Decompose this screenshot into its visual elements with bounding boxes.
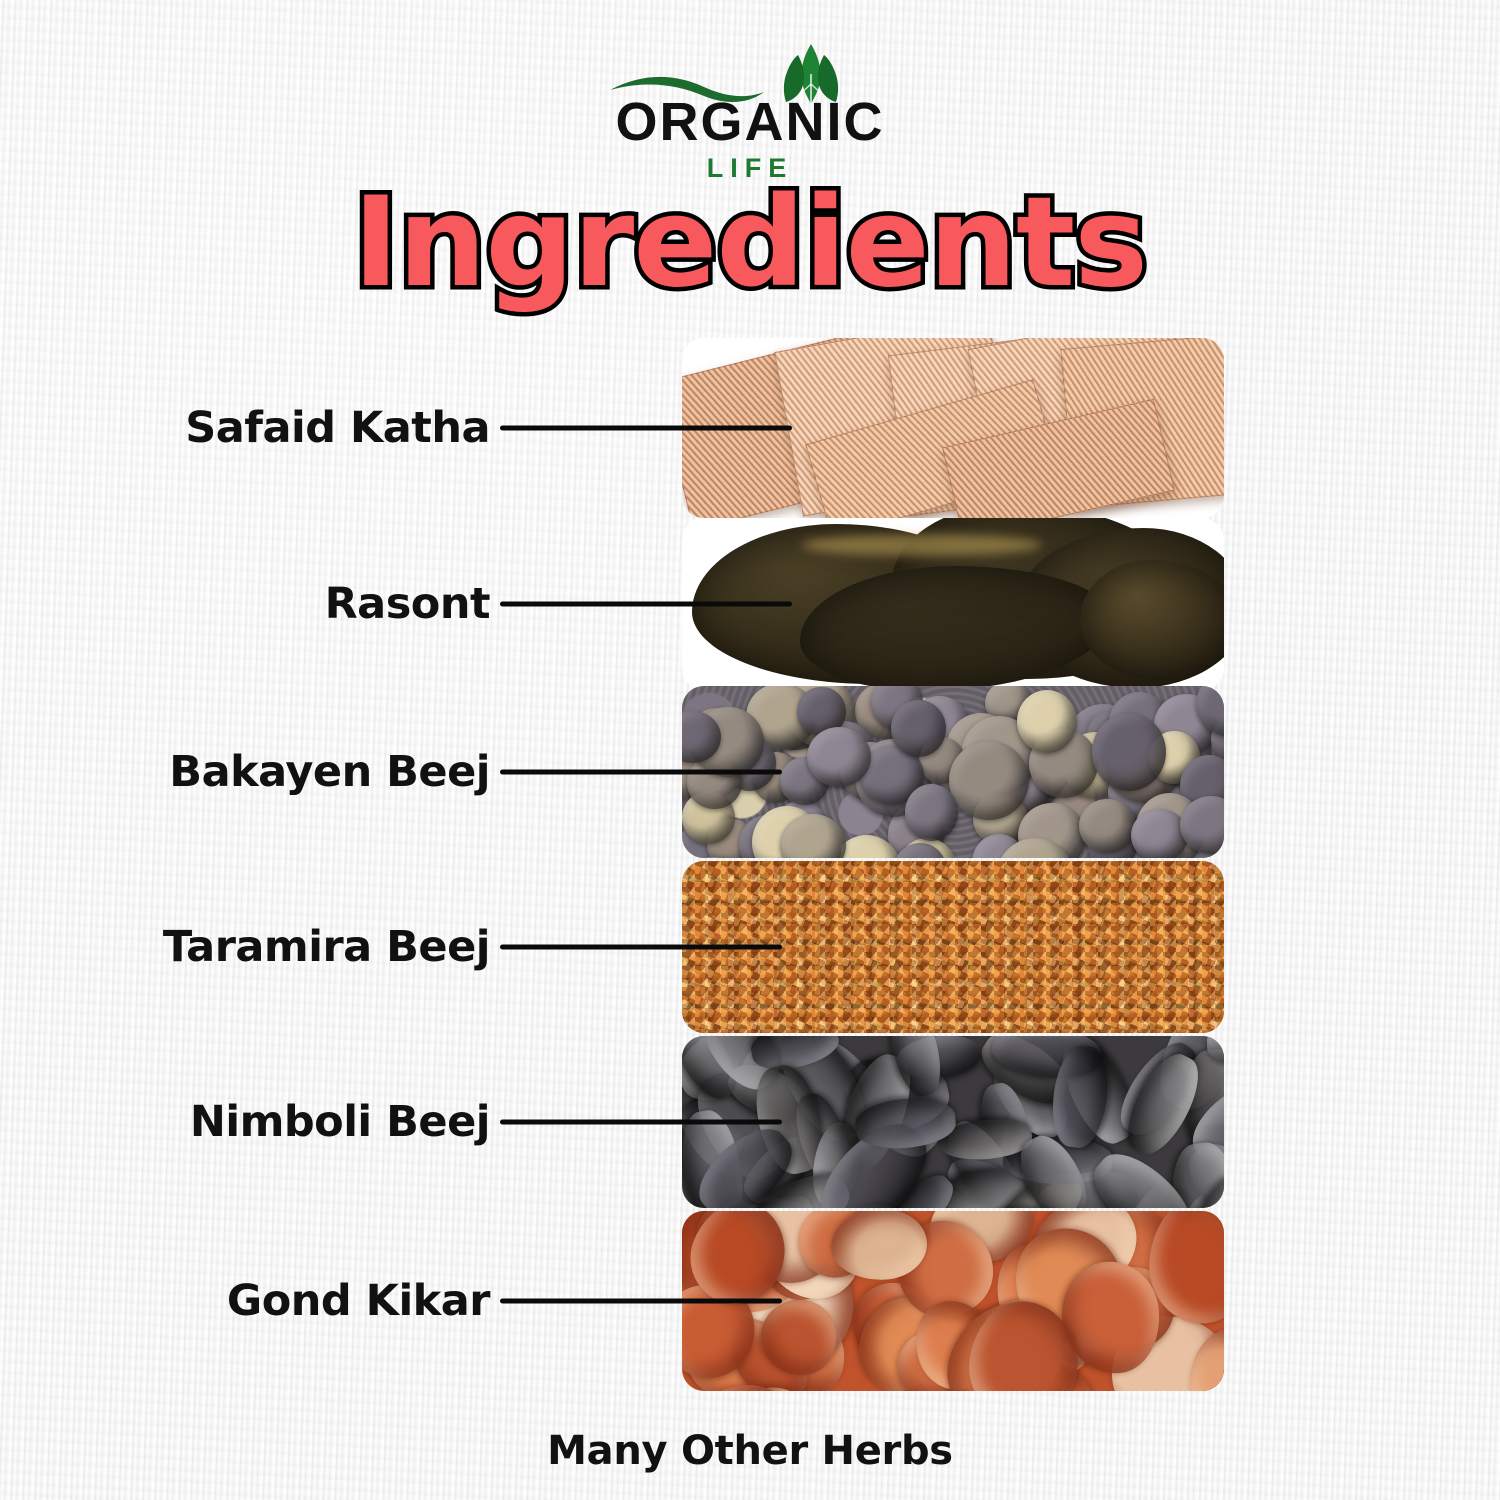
bakayen-berry <box>891 700 946 756</box>
swoosh-icon <box>608 74 768 104</box>
leader-line <box>500 1299 782 1304</box>
leader-line <box>500 770 782 775</box>
bakayen-berry <box>1092 713 1166 791</box>
logo-mark <box>600 42 900 109</box>
leaf-icon <box>768 44 854 106</box>
ingredient-label: Taramira Beej <box>90 922 490 972</box>
leader-line <box>500 426 792 431</box>
ingredient-label: Nimboli Beej <box>90 1097 490 1147</box>
footer-note: Many Other Herbs <box>0 1428 1500 1474</box>
brand-logo: ORGANIC LIFE <box>0 42 1500 182</box>
leader-line <box>500 1120 782 1125</box>
bakayen-berry <box>1131 809 1187 858</box>
ingredient-label: Rasont <box>90 579 490 629</box>
page-title: Ingredients <box>0 178 1500 308</box>
bakayen-berry <box>1079 799 1136 852</box>
bakayen-berry <box>949 741 1029 820</box>
leader-line <box>500 945 782 950</box>
rasont-highlight <box>802 534 1042 556</box>
ingredient-label: Gond Kikar <box>90 1276 490 1326</box>
bakayen-berry <box>1017 690 1077 753</box>
leader-line <box>500 602 792 607</box>
ingredient-label: Bakayen Beej <box>90 747 490 797</box>
ingredient-label: Safaid Katha <box>90 403 490 453</box>
bakayen-berry <box>807 727 871 787</box>
bakayen-berry <box>905 784 958 840</box>
